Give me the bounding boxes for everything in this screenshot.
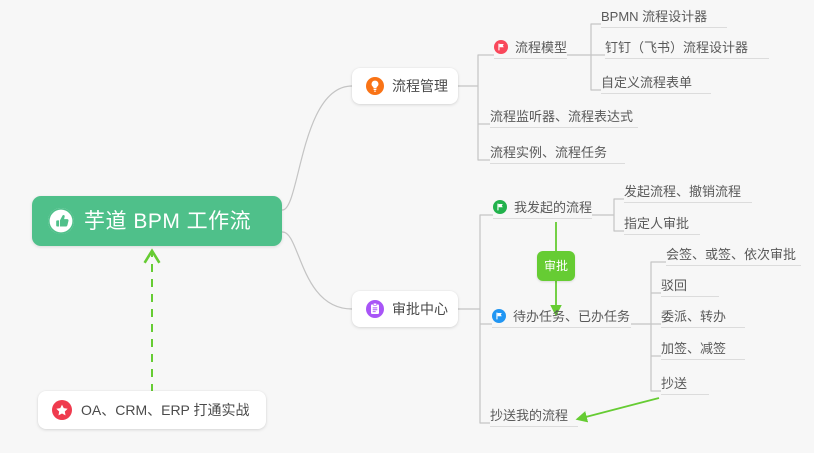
leaf-label: 发起流程、撤销流程 xyxy=(624,184,741,199)
leaf-cc[interactable]: 抄送 xyxy=(661,376,709,395)
leaf-cc-to-me[interactable]: 抄送我的流程 xyxy=(490,408,578,427)
leaf-label: 委派、转办 xyxy=(661,309,726,324)
leaf-listener-expression[interactable]: 流程监听器、流程表达式 xyxy=(490,109,638,128)
leaf-label: 抄送 xyxy=(661,376,687,391)
leaf-label: 加签、减签 xyxy=(661,341,726,356)
leaf-countersign-approval[interactable]: 会签、或签、依次审批 xyxy=(666,247,801,266)
leaf-process-model[interactable]: 流程模型 xyxy=(494,40,567,59)
thumbs-up-icon xyxy=(48,208,74,234)
flag-icon-blue xyxy=(492,309,506,323)
leaf-label: BPMN 流程设计器 xyxy=(601,9,707,24)
leaf-instance-task[interactable]: 流程实例、流程任务 xyxy=(490,145,625,164)
branch-node-process-management[interactable]: 流程管理 xyxy=(352,68,458,104)
leaf-label: 会签、或签、依次审批 xyxy=(666,247,796,262)
annotation-label-approval: 审批 xyxy=(537,251,575,281)
leaf-label: 流程实例、流程任务 xyxy=(490,145,607,160)
leaf-assignee-approval[interactable]: 指定人审批 xyxy=(624,216,700,235)
star-icon xyxy=(52,400,72,420)
leaf-label: 流程监听器、流程表达式 xyxy=(490,109,633,124)
leaf-label: 指定人审批 xyxy=(624,216,689,231)
leaf-my-initiated-process[interactable]: 我发起的流程 xyxy=(493,200,592,219)
leaf-label: 抄送我的流程 xyxy=(490,408,568,423)
flag-icon-green xyxy=(493,200,507,214)
note-label: OA、CRM、ERP 打通实战 xyxy=(81,403,250,417)
note-node-integration[interactable]: OA、CRM、ERP 打通实战 xyxy=(38,391,266,429)
flag-icon-red xyxy=(494,40,508,54)
branch-label: 流程管理 xyxy=(392,79,448,93)
leaf-label: 待办任务、已办任务 xyxy=(513,309,630,324)
leaf-start-cancel-process[interactable]: 发起流程、撤销流程 xyxy=(624,184,752,203)
branch-node-approval-center[interactable]: 审批中心 xyxy=(352,291,458,327)
leaf-bpmn-designer[interactable]: BPMN 流程设计器 xyxy=(601,9,727,28)
root-label: 芋道 BPM 工作流 xyxy=(84,211,251,232)
leaf-label: 流程模型 xyxy=(515,40,567,55)
leaf-todo-done-tasks[interactable]: 待办任务、已办任务 xyxy=(492,309,631,328)
leaf-dingtalk-designer[interactable]: 钉钉（飞书）流程设计器 xyxy=(605,40,769,59)
leaf-label: 自定义流程表单 xyxy=(601,75,692,90)
leaf-label: 我发起的流程 xyxy=(514,200,592,215)
leaf-label: 驳回 xyxy=(661,278,687,293)
leaf-add-remove-sign[interactable]: 加签、减签 xyxy=(661,341,745,360)
root-node[interactable]: 芋道 BPM 工作流 xyxy=(32,196,282,246)
mindmap-canvas: 芋道 BPM 工作流 流程管理 审批中心 xyxy=(0,0,814,453)
clipboard-icon xyxy=(366,300,384,318)
branch-label: 审批中心 xyxy=(392,302,448,316)
annotation-label-text: 审批 xyxy=(544,260,568,272)
cc-flow-arrow xyxy=(578,398,659,419)
leaf-reject[interactable]: 驳回 xyxy=(661,278,719,297)
lightbulb-icon xyxy=(366,77,384,95)
leaf-label: 钉钉（飞书）流程设计器 xyxy=(605,40,748,55)
leaf-custom-form[interactable]: 自定义流程表单 xyxy=(601,75,711,94)
leaf-delegate-transfer[interactable]: 委派、转办 xyxy=(661,309,745,328)
